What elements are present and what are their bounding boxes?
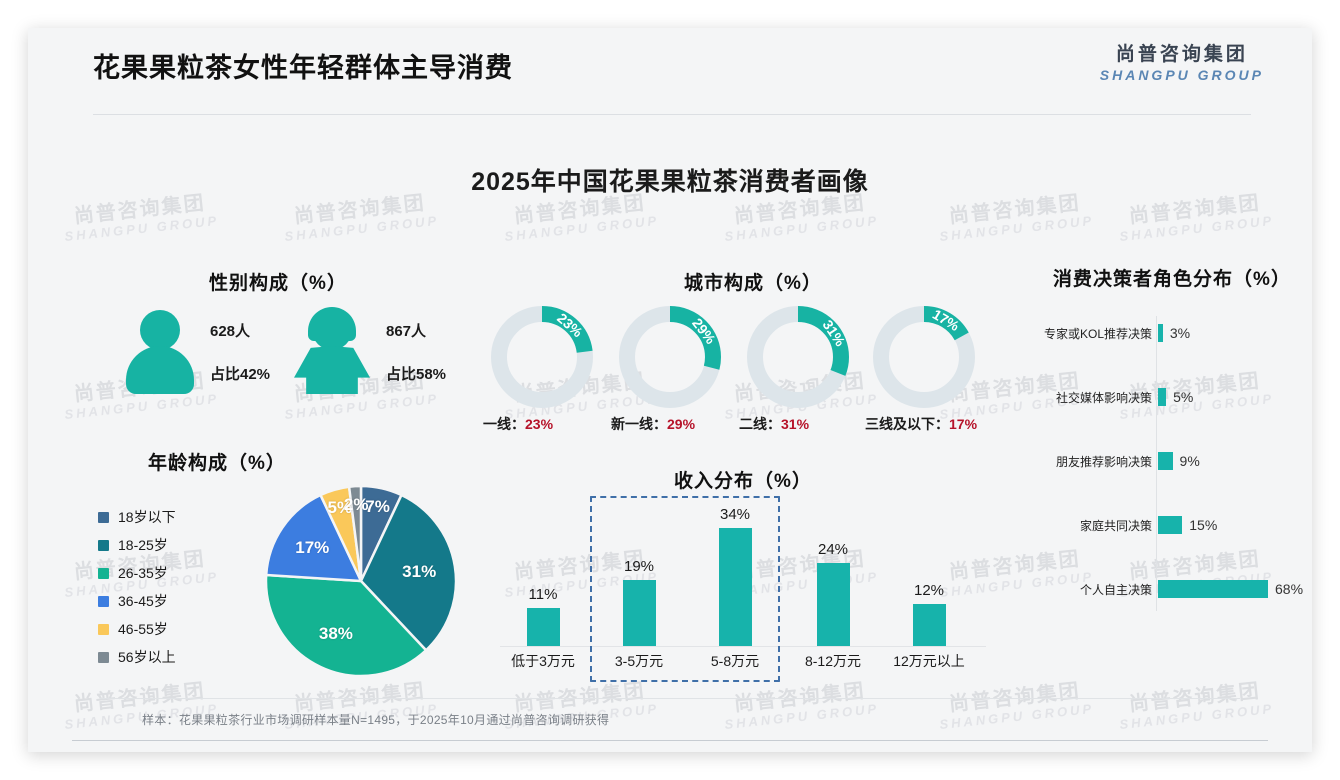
decision-bar [1158,452,1173,470]
age-legend-label: 18岁以下 [118,507,176,527]
footer-copyright: ©2025.12 SHANGPU GROUP [72,750,234,752]
decision-bar-value: 15% [1189,517,1217,533]
income-bar-value: 24% [788,541,878,558]
watermark: 尚普咨询集团SHANGPU GROUP [1117,680,1275,732]
age-pie-value-label: 17% [295,538,329,558]
decision-role-panel: 消费决策者角色分布（%） 专家或KOL推荐决策3%社交媒体影响决策5%朋友推荐影… [1028,264,1308,624]
income-bar [527,608,560,646]
decision-bar-row: 朋友推荐影响决策9% [1028,448,1308,474]
decision-bar-value: 9% [1180,453,1200,469]
legend-swatch-icon [98,624,109,635]
sample-note: 样本：花果果粒茶行业市场调研样本量N=1495，于2025年10月通过尚普咨询调… [142,711,609,728]
legend-swatch-icon [98,568,109,579]
watermark: 尚普咨询集团SHANGPU GROUP [722,192,880,244]
donut-hole [899,332,949,382]
female-count: 867人 [386,320,426,341]
age-pie-value-label: 7% [365,497,390,517]
age-legend-label: 26-35岁 [118,563,168,583]
decision-bar-value: 3% [1170,325,1190,341]
income-bar-column: 12% [884,582,974,646]
decision-category-label: 社交媒体影响决策 [1028,389,1158,406]
age-pie-value-label: 38% [319,624,353,644]
age-pie-value-label: 2% [344,495,369,515]
gender-panel-title: 性别构成（%） [98,268,458,295]
watermark: 尚普咨询集团SHANGPU GROUP [282,192,440,244]
age-legend-item: 18岁以下 [98,503,176,531]
decision-bar [1158,388,1166,406]
male-count: 628人 [210,320,250,341]
city-donut: 29% [619,306,721,408]
income-bar [913,604,946,646]
donut-hole [645,332,695,382]
decision-category-label: 家庭共同决策 [1028,517,1158,534]
decision-bar-row: 专家或KOL推荐决策3% [1028,320,1308,346]
age-legend-label: 36-45岁 [118,591,168,611]
income-category-label: 12万元以上 [881,651,977,671]
brand-logo-en: SHANGPU GROUP [1100,67,1264,83]
decision-category-label: 个人自主决策 [1028,581,1158,598]
legend-swatch-icon [98,512,109,523]
income-bar [817,563,850,646]
donut-hole [773,332,823,382]
age-legend-item: 18-25岁 [98,531,176,559]
legend-swatch-icon [98,652,109,663]
header-divider [93,114,1251,115]
note-divider [100,698,1240,699]
chart-main-title: 2025年中国花果果粒茶消费者画像 [28,162,1312,198]
age-legend-item: 46-55岁 [98,615,176,643]
city-panel-title: 城市构成（%） [473,268,1033,295]
age-composition-panel: 年龄构成（%） 18岁以下18-25岁26-35岁36-45岁46-55岁56岁… [88,448,468,688]
decision-bar-row: 社交媒体影响决策5% [1028,384,1308,410]
age-pie-chart: 7%31%38%17%5%2% [266,486,456,676]
male-share: 占比42% [210,363,270,384]
age-legend-item: 56岁以上 [98,643,176,671]
decision-bar [1158,516,1182,534]
city-donut-caption: 新一线：29% [611,414,695,434]
decision-bar-value: 5% [1173,389,1193,405]
page-title: 花果果粒茶女性年轻群体主导消费 [93,46,513,85]
income-category-label: 低于3万元 [495,651,591,671]
brand-logo-cn: 尚普咨询集团 [1100,44,1264,67]
legend-swatch-icon [98,540,109,551]
city-donut: 23% [491,306,593,408]
income-bar-column: 24% [788,541,878,646]
income-bar-value: 12% [884,582,974,599]
decision-panel-title: 消费决策者角色分布（%） [1028,264,1312,291]
watermark: 尚普咨询集团SHANGPU GROUP [62,192,220,244]
watermark: 尚普咨询集团SHANGPU GROUP [937,192,1095,244]
income-category-label: 8-12万元 [785,651,881,671]
slide-header: 花果果粒茶女性年轻群体主导消费 尚普咨询集团 SHANGPU GROUP [28,28,1312,102]
age-pie-value-label: 31% [402,562,436,582]
city-donut-caption: 二线：31% [739,414,809,434]
watermark: 尚普咨询集团SHANGPU GROUP [1117,192,1275,244]
age-legend-label: 18-25岁 [118,535,168,555]
brand-logo: 尚普咨询集团 SHANGPU GROUP [1100,44,1264,83]
decision-bar [1158,580,1268,598]
income-panel-title: 收入分布（%） [488,466,998,493]
decision-bar-row: 个人自主决策68% [1028,576,1308,602]
decision-bar [1158,324,1163,342]
city-donut-caption: 一线：23% [483,414,553,434]
income-bar-column: 11% [498,586,588,646]
age-legend-label: 56岁以上 [118,647,176,667]
gender-composition-panel: 性别构成（%） 628人 占比42% 867人 占比58% [98,268,458,408]
income-distribution-panel: 收入分布（%） 11%低于3万元19%3-5万元34%5-8万元24%8-12万… [488,466,998,691]
donut-hole [517,332,567,382]
slide-canvas: 尚普咨询集团SHANGPU GROUP尚普咨询集团SHANGPU GROUP尚普… [28,28,1312,752]
watermark: 尚普咨询集团SHANGPU GROUP [502,192,660,244]
female-silhouette-icon [294,310,370,394]
city-donut-caption: 三线及以下：17% [865,414,977,434]
female-share: 占比58% [386,363,446,384]
footer-website[interactable]: www.shangpu-china.com [1135,750,1268,752]
age-legend-item: 36-45岁 [98,587,176,615]
age-panel-title: 年龄构成（%） [148,448,286,475]
income-bar-value: 11% [498,586,588,603]
decision-bar-row: 家庭共同决策15% [1028,512,1308,538]
city-composition-panel: 城市构成（%） 23%一线：23%29%新一线：29%31%二线：31%17%三… [473,268,1033,413]
legend-swatch-icon [98,596,109,607]
income-highlight-box [590,496,780,682]
city-donut: 31% [747,306,849,408]
city-donut: 17% [873,306,975,408]
decision-bar-value: 68% [1275,581,1303,597]
male-silhouette-icon [126,310,194,394]
decision-category-label: 朋友推荐影响决策 [1028,453,1158,470]
decision-category-label: 专家或KOL推荐决策 [1028,325,1158,342]
footer-divider [72,740,1268,741]
age-legend: 18岁以下18-25岁26-35岁36-45岁46-55岁56岁以上 [98,503,176,671]
age-legend-label: 46-55岁 [118,619,168,639]
age-legend-item: 26-35岁 [98,559,176,587]
